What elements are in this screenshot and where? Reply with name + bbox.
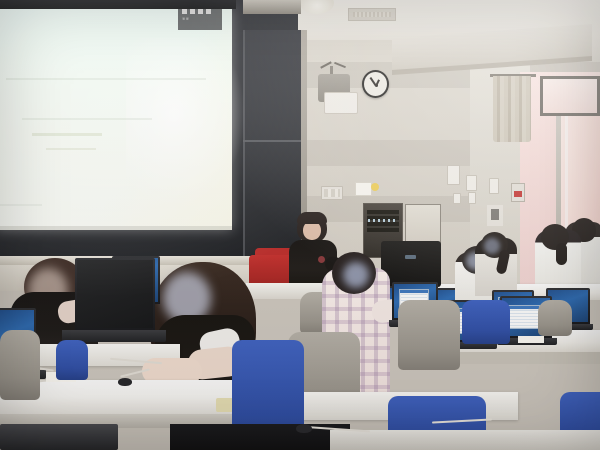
screen-bottom-edge [0,226,232,230]
overlay-icon [206,9,211,14]
overlay-icon [190,9,195,14]
grey-chair[interactable] [398,300,460,370]
blue-chair[interactable] [56,340,88,380]
posted-notice [355,182,372,196]
grey-chair[interactable] [538,300,572,336]
monitor-logo [405,255,416,259]
screen-roller-housing [0,0,236,9]
mouse-icon[interactable] [296,424,312,433]
screen-content-line [46,148,96,150]
instructor-badge [318,256,325,263]
projector-hotspot [126,38,246,208]
clock-center-pin [375,84,378,87]
window-titlebar [509,306,539,309]
curtain [493,76,531,142]
transom-window [540,76,600,116]
laptop-screen [77,260,153,328]
classroom-photo: ※※ [0,0,600,450]
ceiling-vent-icon [348,8,396,21]
window-titlebar [400,290,428,293]
wall-mount-plate [324,92,358,114]
overlay-icon [198,9,203,14]
desk-front-panel [455,352,600,364]
overlay-text: ※※ [182,16,218,21]
screen-content-line [32,133,102,136]
wall-socket-plate [487,205,503,226]
screen-content-line [0,204,42,206]
screen-content-line [6,78,206,80]
wall-plate [466,175,477,191]
notice-marker-icon [371,183,379,191]
blackboard-top-trim [243,0,301,14]
spreadsheet-window [508,305,540,329]
wall-plate [453,193,461,204]
instructor-hair [297,212,327,224]
projection-screen [0,8,232,230]
wall-plate [447,165,460,185]
mouse-icon[interactable] [118,378,132,386]
wall-clock-icon [362,70,389,98]
screen-overlay-box: ※※ [178,6,222,30]
face-blur [343,262,369,288]
wall-plate [468,192,476,204]
rack-status-leds [368,219,396,222]
wall-band [295,140,475,166]
laptop[interactable] [0,424,118,450]
face-blur [484,238,500,254]
blackboard-seam [243,140,301,142]
screen-content-line [22,118,152,120]
laptop[interactable] [75,258,155,330]
student-ponytail [556,243,567,265]
overlay-icon-row [182,9,218,14]
blue-chair[interactable] [462,300,510,344]
instructor-monitor [381,241,441,287]
paper-handout [518,336,544,343]
blackboard-panel [243,30,301,260]
wall-plate [489,178,499,194]
grey-chair[interactable] [0,330,40,400]
fire-alarm-icon[interactable] [511,183,525,202]
light-switch-panel[interactable] [321,186,343,200]
desk [330,430,600,450]
overlay-icon [182,9,187,14]
